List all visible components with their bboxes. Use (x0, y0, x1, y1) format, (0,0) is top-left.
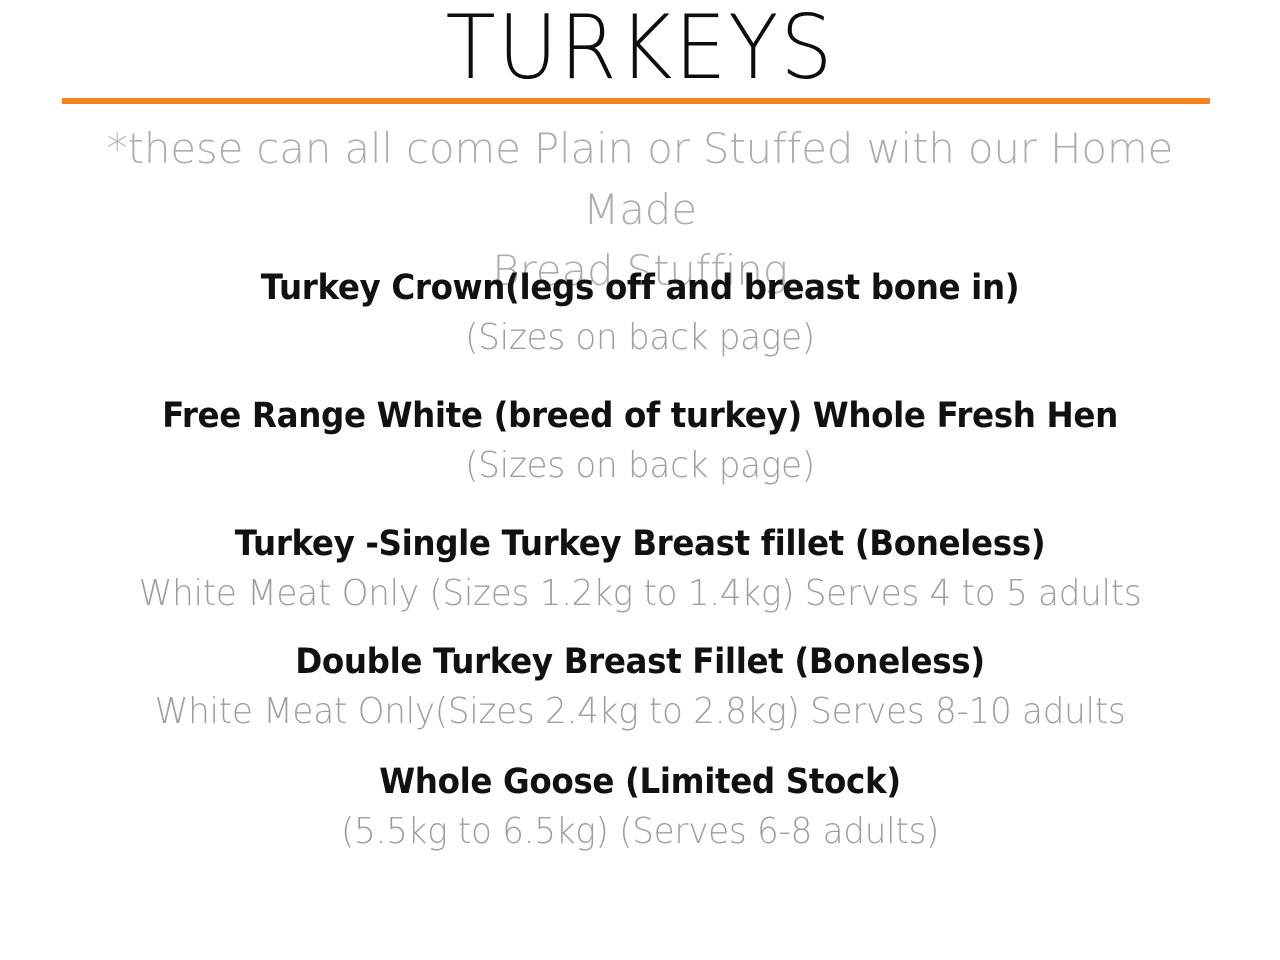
product-name: Whole Goose (Limited Stock) (45, 756, 1235, 808)
product-name: Free Range White (breed of turkey) Whole… (45, 390, 1235, 442)
list-item: Turkey Crown(legs off and breast bone in… (0, 262, 1280, 362)
title-divider-rule (62, 98, 1210, 104)
product-name: Double Turkey Breast Fillet (Boneless) (45, 636, 1235, 688)
product-name: Turkey Crown(legs off and breast bone in… (45, 262, 1235, 314)
subtitle-line-1: *these can all come Plain or Stuffed wit… (50, 118, 1230, 240)
menu-slide: TURKEYS *these can all come Plain or Stu… (0, 0, 1280, 960)
product-description: (Sizes on back page) (32, 442, 1248, 490)
slide-header: TURKEYS *these can all come Plain or Stu… (0, 0, 1280, 94)
product-description: (Sizes on back page) (32, 314, 1248, 362)
list-item: Turkey -Single Turkey Breast fillet (Bon… (0, 518, 1280, 618)
product-description: White Meat Only (Sizes 1.2kg to 1.4kg) S… (32, 570, 1248, 618)
list-item: Double Turkey Breast Fillet (Boneless) W… (0, 636, 1280, 736)
product-description: White Meat Only(Sizes 2.4kg to 2.8kg) Se… (32, 688, 1248, 736)
product-name: Turkey -Single Turkey Breast fillet (Bon… (45, 518, 1235, 570)
product-description: (5.5kg to 6.5kg) (Serves 6-8 adults) (32, 808, 1248, 856)
page-title: TURKEYS (0, 0, 1280, 94)
product-list: Turkey Crown(legs off and breast bone in… (0, 262, 1280, 856)
list-item: Free Range White (breed of turkey) Whole… (0, 390, 1280, 490)
list-item: Whole Goose (Limited Stock) (5.5kg to 6.… (0, 756, 1280, 856)
